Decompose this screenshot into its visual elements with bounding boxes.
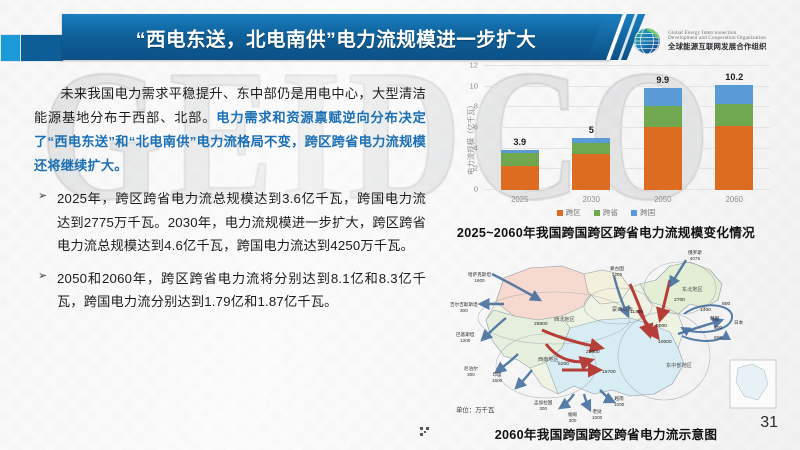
legend-swatch-icon	[594, 210, 600, 216]
chart-bar-total-label: 9.9	[656, 75, 669, 85]
bullet-arrow-icon: ➢	[38, 187, 50, 258]
chart-y-tick-label: 2	[474, 164, 478, 173]
chart-bar-total-label: 3.9	[513, 137, 526, 147]
chart-bar-segment	[572, 143, 610, 155]
bullet-item-1: ➢ 2025年，跨区跨省电力流总规模达到3.6亿千瓦，跨国电力流达到2775万千…	[38, 187, 426, 258]
map-unit-note: 单位：万千瓦	[456, 405, 494, 414]
map-country-label: 蒙古国3200	[610, 266, 624, 277]
qr-mark-icon	[420, 427, 429, 436]
chart-legend-item[interactable]: 跨省	[594, 207, 618, 218]
map-flow-value: 28800	[534, 322, 548, 327]
chart-legend: 跨区跨省跨国	[432, 207, 780, 218]
map-country-label: 韩国	[710, 316, 719, 322]
slide-canvas: GEIDCO “西电东送，北电南供”电力流规模进一步扩大	[0, 0, 800, 450]
map-flow-value: 11400	[630, 310, 643, 315]
map-region-label: 西南地区	[538, 356, 559, 363]
chart-bar-segment	[644, 106, 682, 127]
map-flow-value: 600	[714, 336, 722, 341]
logo-text-block: Global Energy Interconnection Developmen…	[668, 31, 767, 52]
map-region-label: 西北地区	[554, 316, 575, 323]
chart-bar-segment	[572, 154, 610, 190]
chart-x-tick-label: 2050	[654, 195, 671, 204]
map-country-label: 吉尔吉斯斯坦300	[450, 302, 478, 313]
stacked-bar-chart: 电力流规模（亿千瓦） 0246810123.92025520309.920501…	[432, 62, 780, 214]
map-flow-value: 6200	[558, 362, 569, 367]
map-region-label: 东北地区	[682, 286, 703, 293]
header-title-bar: “西电东送，北电南供”电力流规模进一步扩大	[62, 14, 610, 60]
map-region-label: 东中部地区	[666, 362, 692, 369]
chart-legend-item[interactable]: 跨区	[557, 207, 581, 218]
map-caption: 2060年我国跨国跨区跨省电力流示意图	[430, 424, 782, 443]
chart-x-tick-label: 2060	[726, 195, 743, 204]
chart-gridline: 12	[484, 65, 770, 66]
chart-x-tick-label: 2025	[511, 195, 528, 204]
chart-bar-segment	[644, 127, 682, 190]
chart-x-tick-label: 2030	[583, 195, 600, 204]
map-flow-value: 800	[722, 302, 730, 307]
chart-y-tick-label: 6	[474, 123, 478, 132]
logo-cn-name: 全球能源互联网发展合作组织	[668, 43, 767, 51]
chart-bar-total-label: 10.2	[725, 72, 743, 82]
bullet-arrow-icon: ➢	[38, 267, 50, 314]
chart-bar-segment	[501, 153, 539, 166]
map-flow-value: 9000	[656, 324, 667, 329]
map-flow-value: 2700	[674, 298, 685, 303]
page-number: 31	[760, 414, 778, 432]
power-flow-map: 西北地区西南地区蒙西山西东北地区东中部地区哈萨克斯坦1600吉尔吉斯斯坦300巴…	[434, 244, 782, 422]
bullet-item-2: ➢ 2050和2060年，跨区跨省电力流将分别达到8.1亿和8.3亿千瓦，跨国电…	[38, 267, 426, 314]
chart-bar[interactable]: 10.22060	[715, 85, 753, 190]
bullet-text-2: 2050和2060年，跨区跨省电力流将分别达到8.1亿和8.3亿千瓦，跨国电力流…	[57, 267, 426, 314]
chart-legend-item[interactable]: 跨国	[631, 207, 655, 218]
chart-y-tick-label: 8	[474, 102, 478, 111]
map-country-label: 哈萨克斯坦1600	[468, 272, 491, 283]
map-flow-value: 15700	[602, 370, 616, 375]
legend-swatch-icon	[557, 210, 563, 216]
chart-caption: 2025~2060年我国跨国跨区跨省电力流规模变化情况	[430, 222, 782, 241]
map-country-label: 老挝1000	[592, 409, 602, 420]
chart-y-tick-label: 12	[470, 61, 478, 70]
chart-bar[interactable]: 9.92050	[644, 88, 682, 190]
organization-logo: Global Energy Interconnection Developmen…	[632, 20, 800, 62]
intro-paragraph: 未来我国电力需求平稳提升、东中部仍是用电中心，大型清洁能源基地分布于西部、北部。…	[34, 82, 426, 178]
bullet-text-1: 2025年，跨区跨省电力流总规模达到3.6亿千瓦，跨国电力流达到2775万千瓦。…	[57, 187, 426, 258]
china-map-graphic	[434, 244, 782, 422]
map-country-label: 日本	[734, 320, 743, 326]
map-country-label: 印度1600	[492, 372, 502, 383]
chart-y-tick-label: 0	[474, 185, 478, 194]
map-country-label: 俄罗斯4075	[688, 250, 702, 261]
body-text-column: 未来我国电力需求平稳提升、东中部仍是用电中心，大型清洁能源基地分布于西部、北部。…	[34, 82, 426, 314]
map-country-label: 孟加拉国300	[534, 400, 552, 411]
chart-bar-segment	[715, 126, 753, 190]
chart-y-tick-label: 4	[474, 143, 478, 152]
chart-bar[interactable]: 3.92025	[501, 150, 539, 190]
map-flow-value: 10000	[658, 340, 672, 345]
globe-icon	[632, 26, 662, 56]
legend-swatch-icon	[631, 210, 637, 216]
chart-bar-segment	[644, 88, 682, 106]
chart-y-tick-label: 10	[470, 81, 478, 90]
map-flow-value: 1400	[700, 308, 711, 313]
chart-plot-area: 0246810123.92025520309.9205010.22060	[484, 66, 770, 190]
map-flow-value: 22600	[586, 350, 600, 355]
legend-label: 跨区	[566, 207, 581, 218]
chart-bar-total-label: 5	[589, 125, 594, 135]
map-country-label: 缅甸300	[568, 412, 577, 423]
map-country-label: 越南1000	[614, 396, 624, 407]
page-title: “西电东送，北电南供”电力流规模进一步扩大	[62, 14, 610, 60]
map-flow-value: 400	[714, 326, 722, 331]
slide-header: “西电东送，北电南供”电力流规模进一步扩大	[0, 14, 800, 60]
map-country-label: 巴基斯坦1200	[456, 332, 474, 343]
header-decor-square-dark	[20, 34, 64, 62]
legend-label: 跨国	[640, 207, 655, 218]
map-country-label: 尼泊尔300	[464, 366, 478, 377]
chart-bar-segment	[715, 85, 753, 104]
legend-label: 跨省	[603, 207, 618, 218]
chart-bar-segment	[501, 166, 539, 190]
chart-bar[interactable]: 52030	[572, 138, 610, 190]
chart-bar-segment	[715, 104, 753, 126]
